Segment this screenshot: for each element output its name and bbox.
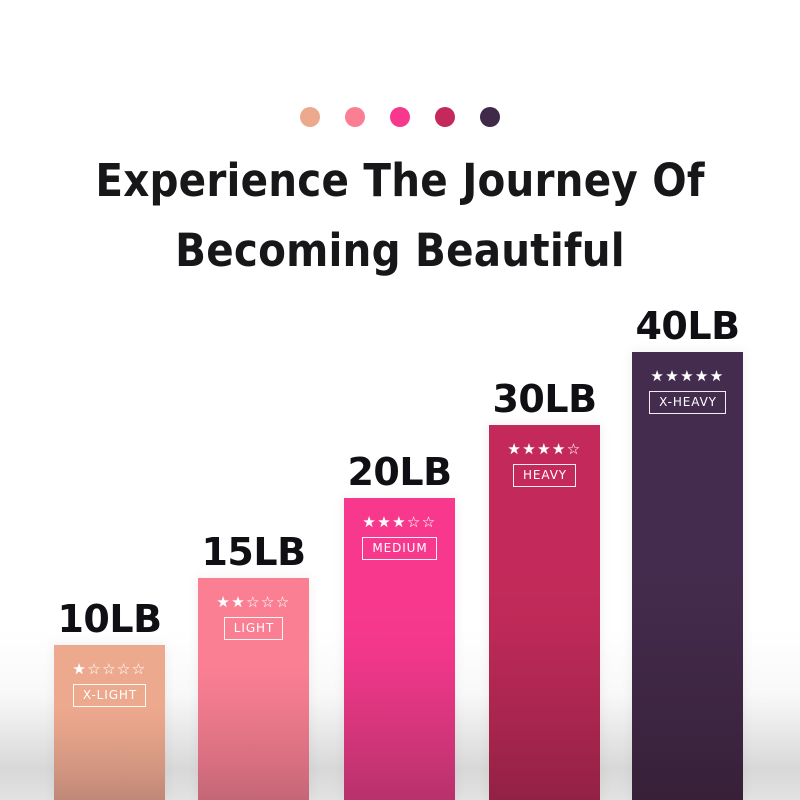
bar-30lb-value-label: 30LB xyxy=(492,377,596,421)
product-infographic-poster: Experience The Journey Of Becoming Beaut… xyxy=(0,0,800,800)
bar-20lb[interactable]: 20LB★★★☆☆MEDIUM xyxy=(344,498,455,800)
bar-10lb-column: ★☆☆☆☆X-LIGHT xyxy=(54,645,165,800)
bar-40lb-star-rating: ★★★★★ xyxy=(650,368,724,384)
bar-15lb-star-rating: ★★☆☆☆ xyxy=(216,594,290,610)
bar-40lb-column: ★★★★★X-HEAVY xyxy=(632,352,743,800)
bar-40lb-value-label: 40LB xyxy=(635,304,739,348)
bar-20lb-badge-stack: ★★★☆☆MEDIUM xyxy=(344,514,455,560)
bar-40lb-tier-badge: X-HEAVY xyxy=(649,391,726,414)
bar-30lb[interactable]: 30LB★★★★☆HEAVY xyxy=(489,425,600,800)
bar-20lb-column: ★★★☆☆MEDIUM xyxy=(344,498,455,800)
bar-30lb-column: ★★★★☆HEAVY xyxy=(489,425,600,800)
bar-20lb-value-label: 20LB xyxy=(347,450,451,494)
bar-20lb-star-rating: ★★★☆☆ xyxy=(362,514,436,530)
bar-30lb-badge-stack: ★★★★☆HEAVY xyxy=(489,441,600,487)
bar-10lb[interactable]: 10LB★☆☆☆☆X-LIGHT xyxy=(54,645,165,800)
bar-10lb-tier-badge: X-LIGHT xyxy=(73,684,146,707)
bar-15lb[interactable]: 15LB★★☆☆☆LIGHT xyxy=(198,578,309,800)
resistance-band-bar-chart: 10LB★☆☆☆☆X-LIGHT15LB★★☆☆☆LIGHT20LB★★★☆☆M… xyxy=(0,0,800,800)
bar-15lb-column: ★★☆☆☆LIGHT xyxy=(198,578,309,800)
bar-10lb-value-label: 10LB xyxy=(57,597,161,641)
bar-40lb-badge-stack: ★★★★★X-HEAVY xyxy=(632,368,743,414)
bar-30lb-tier-badge: HEAVY xyxy=(513,464,576,487)
bar-40lb[interactable]: 40LB★★★★★X-HEAVY xyxy=(632,352,743,800)
bar-10lb-badge-stack: ★☆☆☆☆X-LIGHT xyxy=(54,661,165,707)
bar-15lb-value-label: 15LB xyxy=(201,530,305,574)
bar-10lb-star-rating: ★☆☆☆☆ xyxy=(72,661,146,677)
bar-30lb-star-rating: ★★★★☆ xyxy=(507,441,581,457)
bar-15lb-badge-stack: ★★☆☆☆LIGHT xyxy=(198,594,309,640)
bar-15lb-tier-badge: LIGHT xyxy=(224,617,283,640)
bar-20lb-tier-badge: MEDIUM xyxy=(362,537,436,560)
bar-40lb-shading-overlay xyxy=(632,352,743,800)
